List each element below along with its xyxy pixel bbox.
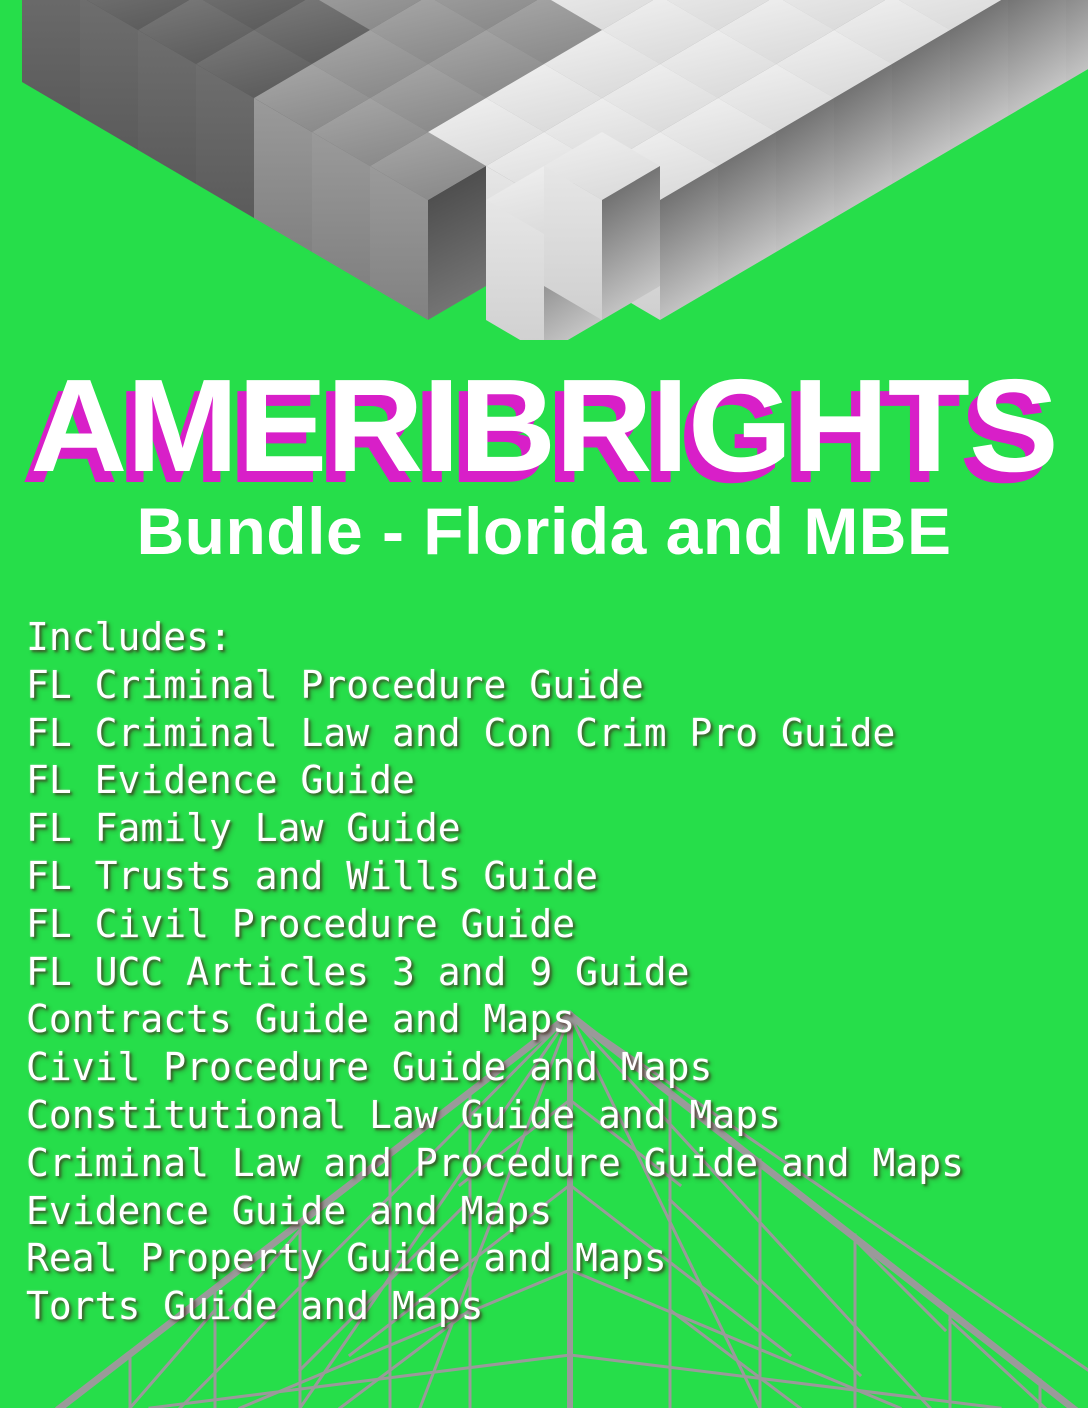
list-item: Torts Guide and Maps bbox=[26, 1283, 1066, 1331]
list-item: Constitutional Law Guide and Maps bbox=[26, 1092, 1066, 1140]
brand-title-block: AMERIBRIGHTS Bundle - Florida and MBE bbox=[0, 360, 1088, 564]
list-item: Criminal Law and Procedure Guide and Map… bbox=[26, 1140, 1066, 1188]
list-item: FL Family Law Guide bbox=[26, 805, 1066, 853]
list-item: Civil Procedure Guide and Maps bbox=[26, 1044, 1066, 1092]
includes-list: Includes: FL Criminal Procedure Guide FL… bbox=[26, 614, 1066, 1331]
page-subtitle: Bundle - Florida and MBE bbox=[0, 498, 1088, 564]
list-item: FL Trusts and Wills Guide bbox=[26, 853, 1066, 901]
list-item: FL UCC Articles 3 and 9 Guide bbox=[26, 949, 1066, 997]
list-item: Contracts Guide and Maps bbox=[26, 996, 1066, 1044]
includes-heading: Includes: bbox=[26, 614, 1066, 662]
list-item: FL Criminal Procedure Guide bbox=[26, 662, 1066, 710]
poster-canvas: AMERIBRIGHTS Bundle - Florida and MBE In… bbox=[0, 0, 1088, 1408]
list-item: Evidence Guide and Maps bbox=[26, 1188, 1066, 1236]
list-item: FL Criminal Law and Con Crim Pro Guide bbox=[26, 710, 1066, 758]
list-item: FL Evidence Guide bbox=[26, 757, 1066, 805]
isometric-cube-grid bbox=[0, 0, 1088, 340]
list-item: FL Civil Procedure Guide bbox=[26, 901, 1066, 949]
list-item: Real Property Guide and Maps bbox=[26, 1235, 1066, 1283]
page-title: AMERIBRIGHTS bbox=[0, 360, 1088, 492]
